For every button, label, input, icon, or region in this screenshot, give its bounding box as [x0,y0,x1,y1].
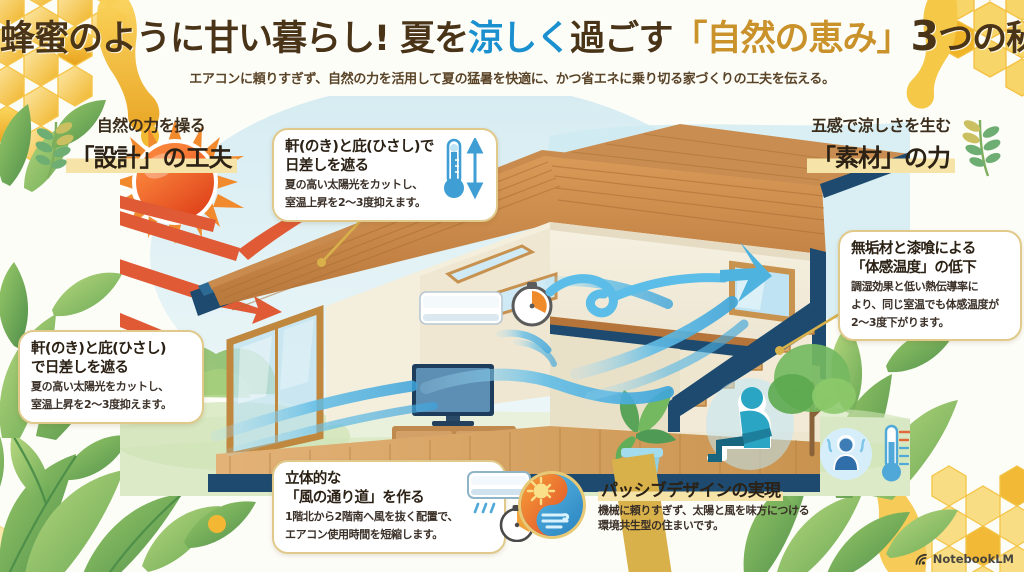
callout-body-line3: 2〜3度下がります。 [851,316,1009,331]
callout-wind: 立体的な 「風の通り道」を作る 1階北から2階南へ風を抜く配置で、 エアコン使用… [272,460,506,554]
callout-title-line1: 軒(のき)と庇(ひさし) [31,340,191,359]
watermark-label: NotebookLM [933,552,1014,566]
callout-body-line1: 夏の高い太陽光をカットし、 [285,178,434,193]
title-part-6: つの秘訣 [938,19,1024,59]
page-title: 蜂蜜のように甘い暮らし! 夏を涼しく過ごす「自然の恵み」3つの秘訣 [0,14,1024,59]
section-heading-line2: 「素材」の力 [807,138,955,173]
passive-design-title: パッシブデザインの実現 [598,476,783,501]
leaf-sprig-icon [962,116,1002,178]
title-part-gold: 「自然の恵み」 [673,19,911,59]
title-part-3: 過ごす [570,19,672,59]
leader-dot-material [775,346,784,355]
section-heading-design: 自然の力を操る 「設計」の工夫 [36,112,266,173]
notebooklm-logo-icon [915,553,929,566]
callout-body-line2: より、同じ室温でも体感温度が [851,298,1009,313]
callout-body-line1: 1階北から2階南へ風を抜く配置で、 [285,510,458,525]
up-down-arrow-icon [469,140,481,196]
callout-title-line1: 無垢材と漆喰による [851,240,1009,259]
callout-eaves-left: 軒(のき)と庇(ひさし) で日差しを遮る 夏の高い太陽光をカットし、 室温上昇を… [18,330,204,424]
callout-eaves-top: 軒(のき)と庇(ひさし)で 日差しを遮る 夏の高い太陽光をカットし、 室温上昇を… [272,128,498,222]
callout-body-line1: 調湿効果と低い熱伝導率に [851,280,1009,295]
callout-title-line2: 「体感温度」の低下 [851,259,1009,278]
section-heading-material: 五感で涼しさを生む 「素材」の力 [766,112,996,173]
callout-body-line1: 夏の高い太陽光をカットし、 [31,380,191,395]
passive-design-note: パッシブデザインの実現 機械に頼りすぎず、太陽と風を味方につける 環境共生型の住… [517,470,847,540]
callout-title-line1: 軒(のき)と庇(ひさし)で [285,138,434,157]
callout-body-line2: 室温上昇を2〜3度抑えます。 [285,196,434,211]
title-part-blue: 涼しく [468,19,570,59]
callout-title-line1: 立体的な [285,470,458,489]
passive-design-body-line2: 環境共生型の住まいです。 [598,519,809,534]
watermark: NotebookLM [915,552,1014,566]
header: 蜂蜜のように甘い暮らし! 夏を涼しく過ごす「自然の恵み」3つの秘訣 エアコンに頼… [0,14,1024,87]
page-subtitle: エアコンに頼りすぎず、自然の力を活用して夏の猛暑を快適に、かつ省エネに乗り切る家… [0,68,1024,87]
sun-wind-yinyang-icon [517,470,587,540]
thermometer-icon [442,138,486,202]
callout-title-line2: で日差しを遮る [31,359,191,378]
leader-dot-eaves-top [317,258,326,267]
callout-material: 無垢材と漆喰による 「体感温度」の低下 調湿効果と低い熱伝導率に より、同じ室温… [838,230,1022,341]
callout-title-line2: 「風の通り道」を作る [285,489,458,508]
leaf-sprig-icon [34,118,74,180]
passive-design-body-line1: 機械に頼りすぎず、太陽と風を味方につける [598,504,809,519]
air-conditioner-icon [420,292,502,324]
honeycomb-corner-bottom-left-icon [0,482,102,572]
title-part-number: 3 [911,12,939,60]
callout-body-line2: エアコン使用時間を短縮します。 [285,528,458,543]
section-heading-line2: 「設計」の工夫 [66,138,237,173]
callout-title-line2: 日差しを遮る [285,157,434,176]
callout-body-line2: 室温上昇を2〜3度抑えます。 [31,398,191,413]
infographic-canvas: 蜂蜜のように甘い暮らし! 夏を涼しく過ごす「自然の恵み」3つの秘訣 エアコンに頼… [0,0,1024,572]
title-part-1: 蜂蜜のように甘い暮らし! 夏を [0,19,468,59]
